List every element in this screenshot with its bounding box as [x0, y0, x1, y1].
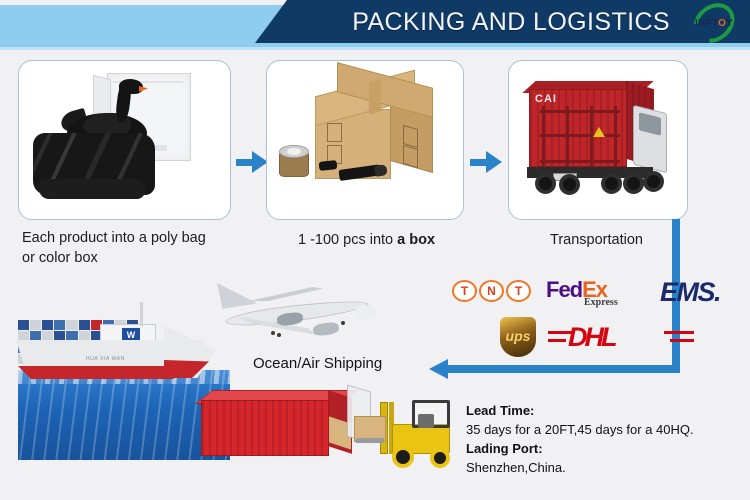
- marker-small-graphic: [319, 160, 338, 171]
- container-truck-graphic: CAI: [527, 81, 677, 201]
- tnt-letter-3: T: [506, 280, 531, 302]
- caption-packing-line1: Each product into a poly bag: [22, 228, 252, 248]
- brand-logo: INFTOY: [686, 2, 742, 44]
- step2-to-step3-arrow-head: [486, 151, 502, 173]
- red-container-graphic: [201, 390, 361, 464]
- container-ship-graphic: W HUA XIA WAN: [14, 296, 214, 382]
- caption-carton-plain: 1 -100 pcs into: [298, 232, 397, 248]
- tnt-logo: T N T: [452, 279, 532, 303]
- caption-transportation: Transportation: [550, 230, 710, 250]
- dhl-logo-text: DHL: [568, 322, 615, 353]
- header-underline: [0, 47, 750, 50]
- logo-text-accent: O: [718, 18, 726, 29]
- poly-bag-fold-graphic: [39, 179, 145, 199]
- lead-time-label: Lead Time:: [466, 403, 534, 418]
- lead-time-value: 35 days for a 20FT,45 days for a 40HQ.: [466, 420, 746, 439]
- container-code-label: CAI: [535, 93, 557, 105]
- slide-root: PACKING AND LOGISTICS INFTOY Each produc…: [0, 0, 750, 500]
- lading-port-label: Lading Port:: [466, 441, 543, 456]
- logistics-info-block: Lead Time: 35 days for a 20FT,45 days fo…: [466, 401, 746, 477]
- caption-carton-bold: a box: [397, 232, 435, 248]
- tnt-letter-2: N: [479, 280, 504, 302]
- ems-logo: EMS.: [660, 277, 720, 308]
- cargo-airplane-graphic: [215, 283, 381, 343]
- ups-logo: ups: [500, 317, 536, 357]
- caption-ocean-air-shipping: Ocean/Air Shipping: [253, 355, 382, 372]
- forklift-graphic: [352, 398, 462, 470]
- caption-carton: 1 -100 pcs into a box: [298, 230, 518, 250]
- courier-logo-group: T N T FedEx Express EMS. ups DHL: [452, 277, 692, 359]
- fedex-part1: Fed: [546, 277, 582, 302]
- ship-funnel-mark: W: [122, 328, 140, 342]
- panel-packing: [18, 60, 231, 220]
- panel-transportation: CAI: [508, 60, 688, 220]
- fedex-subtitle: Express: [584, 297, 618, 308]
- transportation-to-shipping-arrow-horizontal: [447, 365, 680, 373]
- logo-text: INFTOY: [686, 2, 742, 44]
- panel-carton: [266, 60, 464, 220]
- dhl-logo: DHL: [548, 323, 698, 353]
- logo-text-after: Y: [726, 18, 733, 29]
- logo-text-before: INFT: [695, 18, 718, 29]
- caption-packing: Each product into a poly bag or color bo…: [22, 228, 252, 268]
- tape-roll-graphic: [279, 143, 309, 177]
- transportation-to-shipping-arrow-head: [429, 359, 448, 379]
- ups-logo-text: ups: [506, 328, 531, 344]
- ship-hull-name: HUA XIA WAN: [86, 356, 125, 362]
- lading-port-value: Shenzhen,China.: [466, 458, 746, 477]
- fedex-logo: FedEx Express: [546, 277, 642, 307]
- page-header: PACKING AND LOGISTICS INFTOY: [0, 0, 750, 50]
- tnt-letter-1: T: [452, 280, 477, 302]
- caption-packing-line2: or color box: [22, 248, 252, 268]
- page-title: PACKING AND LOGISTICS: [300, 2, 670, 42]
